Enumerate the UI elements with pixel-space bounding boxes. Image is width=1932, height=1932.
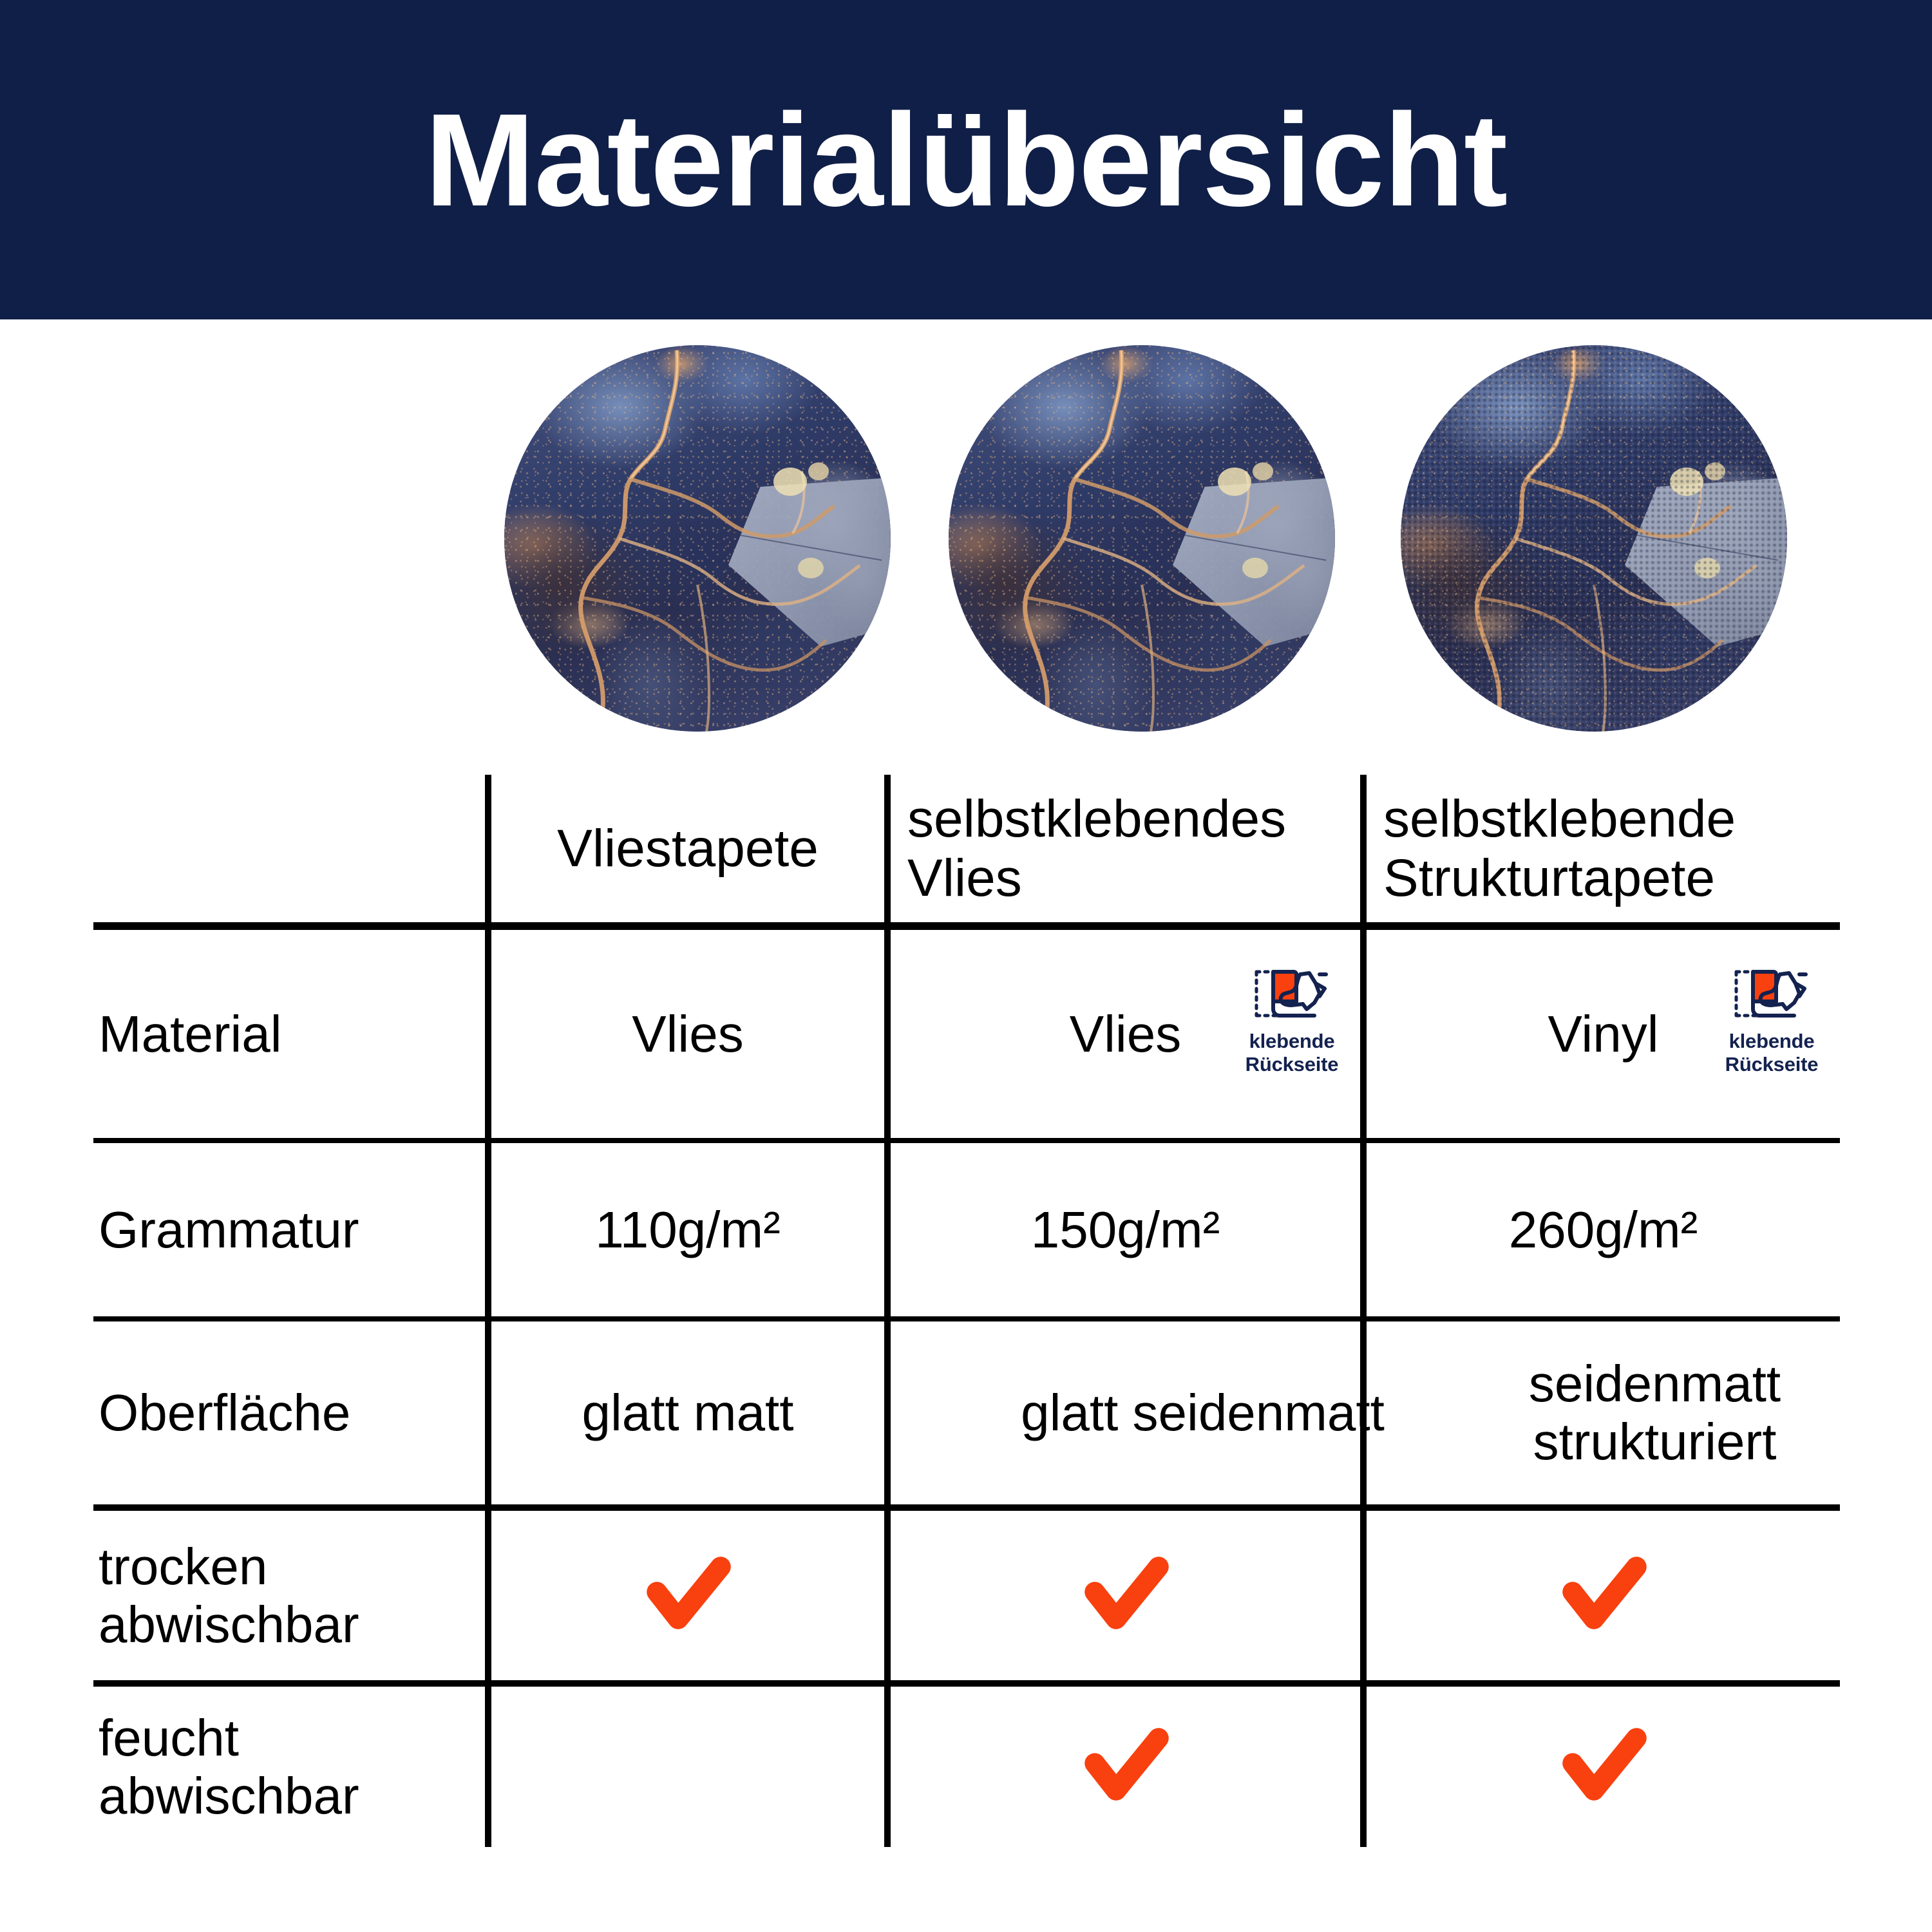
row-label-oberflaeche-text: Oberfläche: [99, 1384, 350, 1442]
cell-oberflaeche-col3-text: seidenmatt strukturiert: [1418, 1355, 1891, 1470]
cell-feucht-col1: [491, 1687, 884, 1847]
peel-sticker-hand-icon: [1723, 960, 1820, 1027]
rule-below-trocken: [93, 1680, 1840, 1687]
cell-oberflaeche-col2-text: glatt seidenmatt: [1021, 1384, 1385, 1442]
cell-material-col3-text: Vinyl: [1548, 1005, 1659, 1063]
cell-material-col1-text: Vlies: [632, 1005, 743, 1063]
cell-grammatur-col3: 260g/m²: [1367, 1143, 1840, 1316]
row-label-grammatur-text: Grammatur: [99, 1201, 359, 1259]
cell-feucht-col2: [891, 1687, 1360, 1847]
row-label-trocken-abwischbar: trocken abwischbar: [93, 1511, 490, 1680]
row-label-feucht-abwischbar: feucht abwischbar: [93, 1687, 490, 1847]
cell-feucht-col3: [1367, 1687, 1840, 1847]
copper-vein: [504, 345, 891, 732]
row-label-feucht-abwischbar-text: feucht abwischbar: [99, 1709, 490, 1824]
column-header-1-label: Vliestapete: [557, 819, 819, 878]
row-label-material-text: Material: [99, 1005, 282, 1063]
row-label-oberflaeche: Oberfläche: [93, 1321, 490, 1504]
cell-oberflaeche-col3: seidenmatt strukturiert: [1367, 1321, 1932, 1504]
row-label-trocken-abwischbar-text: trocken abwischbar: [99, 1538, 490, 1653]
column-header-1: Vliestapete: [491, 775, 884, 922]
peel-sticker-hand-icon: [1244, 960, 1340, 1027]
cell-grammatur-col3-text: 260g/m²: [1509, 1201, 1698, 1259]
cell-trocken-col1: [491, 1511, 884, 1680]
swatch-row: [0, 345, 1932, 757]
sticky-back-badge-col3: klebende Rückseite: [1709, 960, 1835, 1077]
cell-oberflaeche-col1: glatt matt: [491, 1321, 884, 1504]
cell-trocken-col3: [1367, 1511, 1840, 1680]
rule-below-header: [93, 922, 1840, 930]
sticky-back-badge-col2: klebende Rückseite: [1229, 960, 1355, 1077]
sticky-back-badge-col2-text: klebende Rückseite: [1245, 1030, 1339, 1076]
swatch-vliestapete: [504, 345, 891, 732]
cell-material-col1: Vlies: [491, 930, 884, 1138]
row-label-grammatur: Grammatur: [93, 1143, 490, 1316]
rule-below-oberflaeche: [93, 1504, 1840, 1511]
column-header-2: selbstklebendes Vlies: [897, 775, 1361, 922]
checkmark-icon: [639, 1548, 736, 1644]
cell-trocken-col2: [891, 1511, 1360, 1680]
page-title: Materialübersicht: [425, 94, 1507, 226]
cell-material-col2-text: Vlies: [1070, 1005, 1181, 1063]
badge-line-2: Rückseite: [1245, 1053, 1339, 1075]
checkmark-icon: [1077, 1548, 1174, 1644]
checkmark-icon: [1555, 1548, 1652, 1644]
header-band: Materialübersicht: [0, 0, 1932, 319]
column-header-2-label: selbstklebendes Vlies: [907, 790, 1361, 908]
cell-grammatur-col1-text: 110g/m²: [595, 1201, 781, 1259]
row-label-material: Material: [93, 930, 490, 1138]
rule-below-grammatur: [93, 1316, 1840, 1321]
material-comparison-table: Vliestapete selbstklebendes Vlies selbst…: [93, 775, 1840, 1847]
copper-vein: [949, 345, 1335, 732]
checkmark-icon: [1555, 1719, 1652, 1815]
badge-line-1: klebende: [1249, 1030, 1335, 1052]
column-header-3-label: selbstklebende Strukturtapete: [1383, 790, 1850, 908]
rule-below-material: [93, 1138, 1840, 1143]
column-header-3: selbstklebende Strukturtapete: [1373, 775, 1850, 922]
badge-line-1: klebende: [1729, 1030, 1815, 1052]
cell-material-col3: Vinyl: [1367, 930, 1932, 1138]
swatch-selbstklebende-strukturtapete: [1401, 345, 1787, 732]
cell-grammatur-col2: 150g/m²: [891, 1143, 1360, 1316]
sticky-back-badge-col3-text: klebende Rückseite: [1725, 1030, 1819, 1076]
swatch-selbstklebendes-vlies: [949, 345, 1335, 732]
cell-grammatur-col2-text: 150g/m²: [1031, 1201, 1220, 1259]
checkmark-icon: [1077, 1719, 1174, 1815]
cell-grammatur-col1: 110g/m²: [491, 1143, 884, 1316]
badge-line-2: Rückseite: [1725, 1053, 1819, 1075]
cell-oberflaeche-col1-text: glatt matt: [582, 1384, 793, 1442]
structure-weave-overlay: [1401, 345, 1787, 732]
